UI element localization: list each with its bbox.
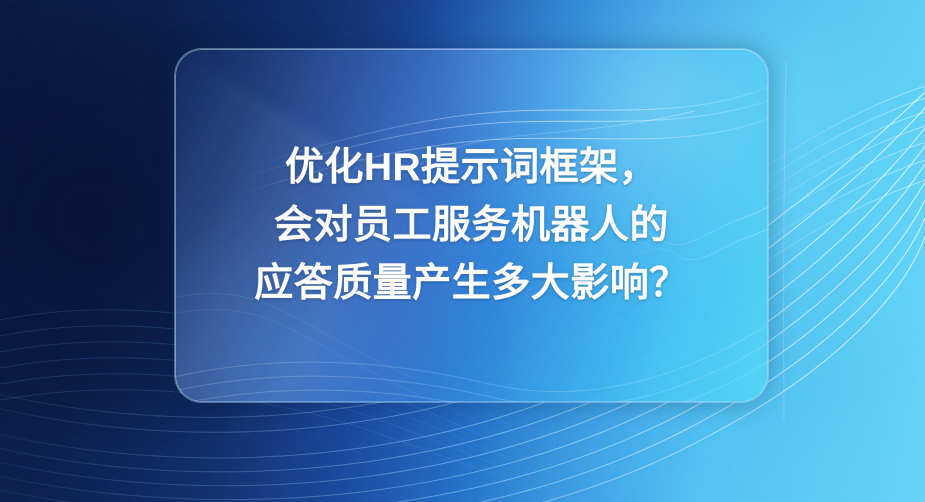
panel-wave-lines [175,49,768,402]
slide-canvas: 优化HR提示词框架， 会对员工服务机器人的 应答质量产生多大影响？ [0,0,925,502]
glass-panel [175,49,768,402]
